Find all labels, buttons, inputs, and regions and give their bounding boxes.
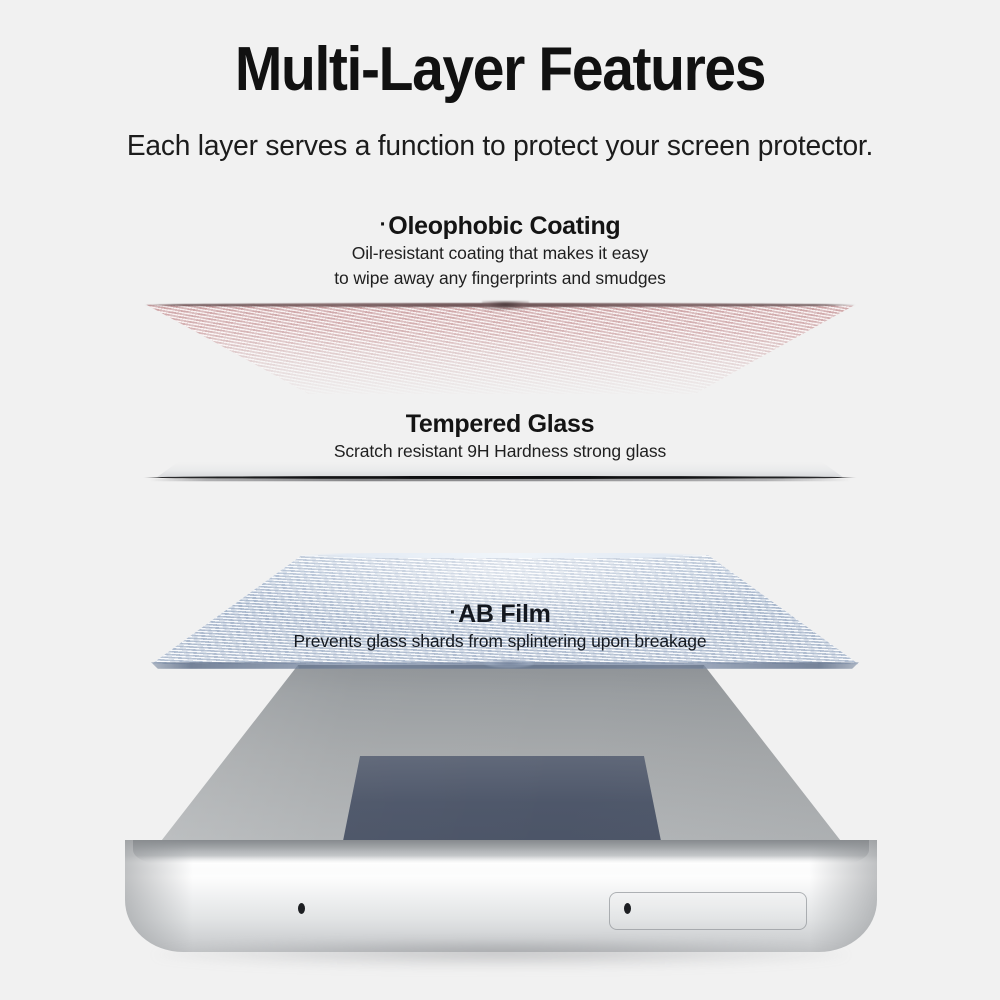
layer-desc-line-1: Oil-resistant coating that makes it easy	[0, 241, 1000, 266]
layer-title-oleophobic-coating: ·Oleophobic Coating	[0, 212, 1000, 241]
layer-oleophobic-coating-sheet	[140, 298, 860, 394]
ab-film-camera-cutout	[484, 659, 534, 668]
layer-title-text: Tempered Glass	[406, 410, 594, 438]
layer-desc-line-1: Prevents glass shards from splintering u…	[0, 629, 1000, 654]
caption-oleophobic-coating: ·Oleophobic Coating Oil-resistant coatin…	[0, 212, 1000, 292]
phone-bottom-bezel	[125, 840, 877, 952]
bullet-dot-icon: ·	[449, 601, 456, 624]
smartphone-device	[118, 660, 884, 960]
layer-title-tempered-glass: Tempered Glass	[0, 410, 1000, 439]
caption-ab-film: ·AB Film Prevents glass shards from spli…	[0, 600, 1000, 654]
infographic-canvas: Multi-Layer Features Each layer serves a…	[0, 0, 1000, 1000]
sim-tray-pinhole-icon	[624, 903, 631, 914]
page-subtitle: Each layer serves a function to protect …	[15, 130, 985, 163]
oleophobic-sheet-fade	[140, 298, 860, 394]
layer-title-text: Oleophobic Coating	[388, 212, 620, 240]
layer-desc-line-1: Scratch resistant 9H Hardness strong gla…	[0, 439, 1000, 464]
layer-tempered-glass-sheet	[143, 462, 857, 488]
bullet-dot-icon: ·	[380, 213, 387, 236]
microphone-hole-icon	[298, 903, 305, 914]
tempered-glass-edge-shadow	[150, 479, 850, 481]
caption-tempered-glass: Tempered Glass Scratch resistant 9H Hard…	[0, 410, 1000, 464]
layer-desc-line-2: to wipe away any fingerprints and smudge…	[0, 266, 1000, 291]
ab-film-top-edge	[298, 553, 712, 558]
phone-drop-shadow	[154, 942, 848, 968]
layer-title-ab-film: ·AB Film	[0, 600, 1000, 629]
phone-screen-reflection	[118, 662, 884, 862]
oleophobic-sheet-camera-cutout	[482, 301, 529, 310]
sim-tray-slot	[609, 892, 807, 930]
layer-title-text: AB Film	[458, 600, 550, 628]
page-title: Multi-Layer Features	[40, 34, 960, 105]
